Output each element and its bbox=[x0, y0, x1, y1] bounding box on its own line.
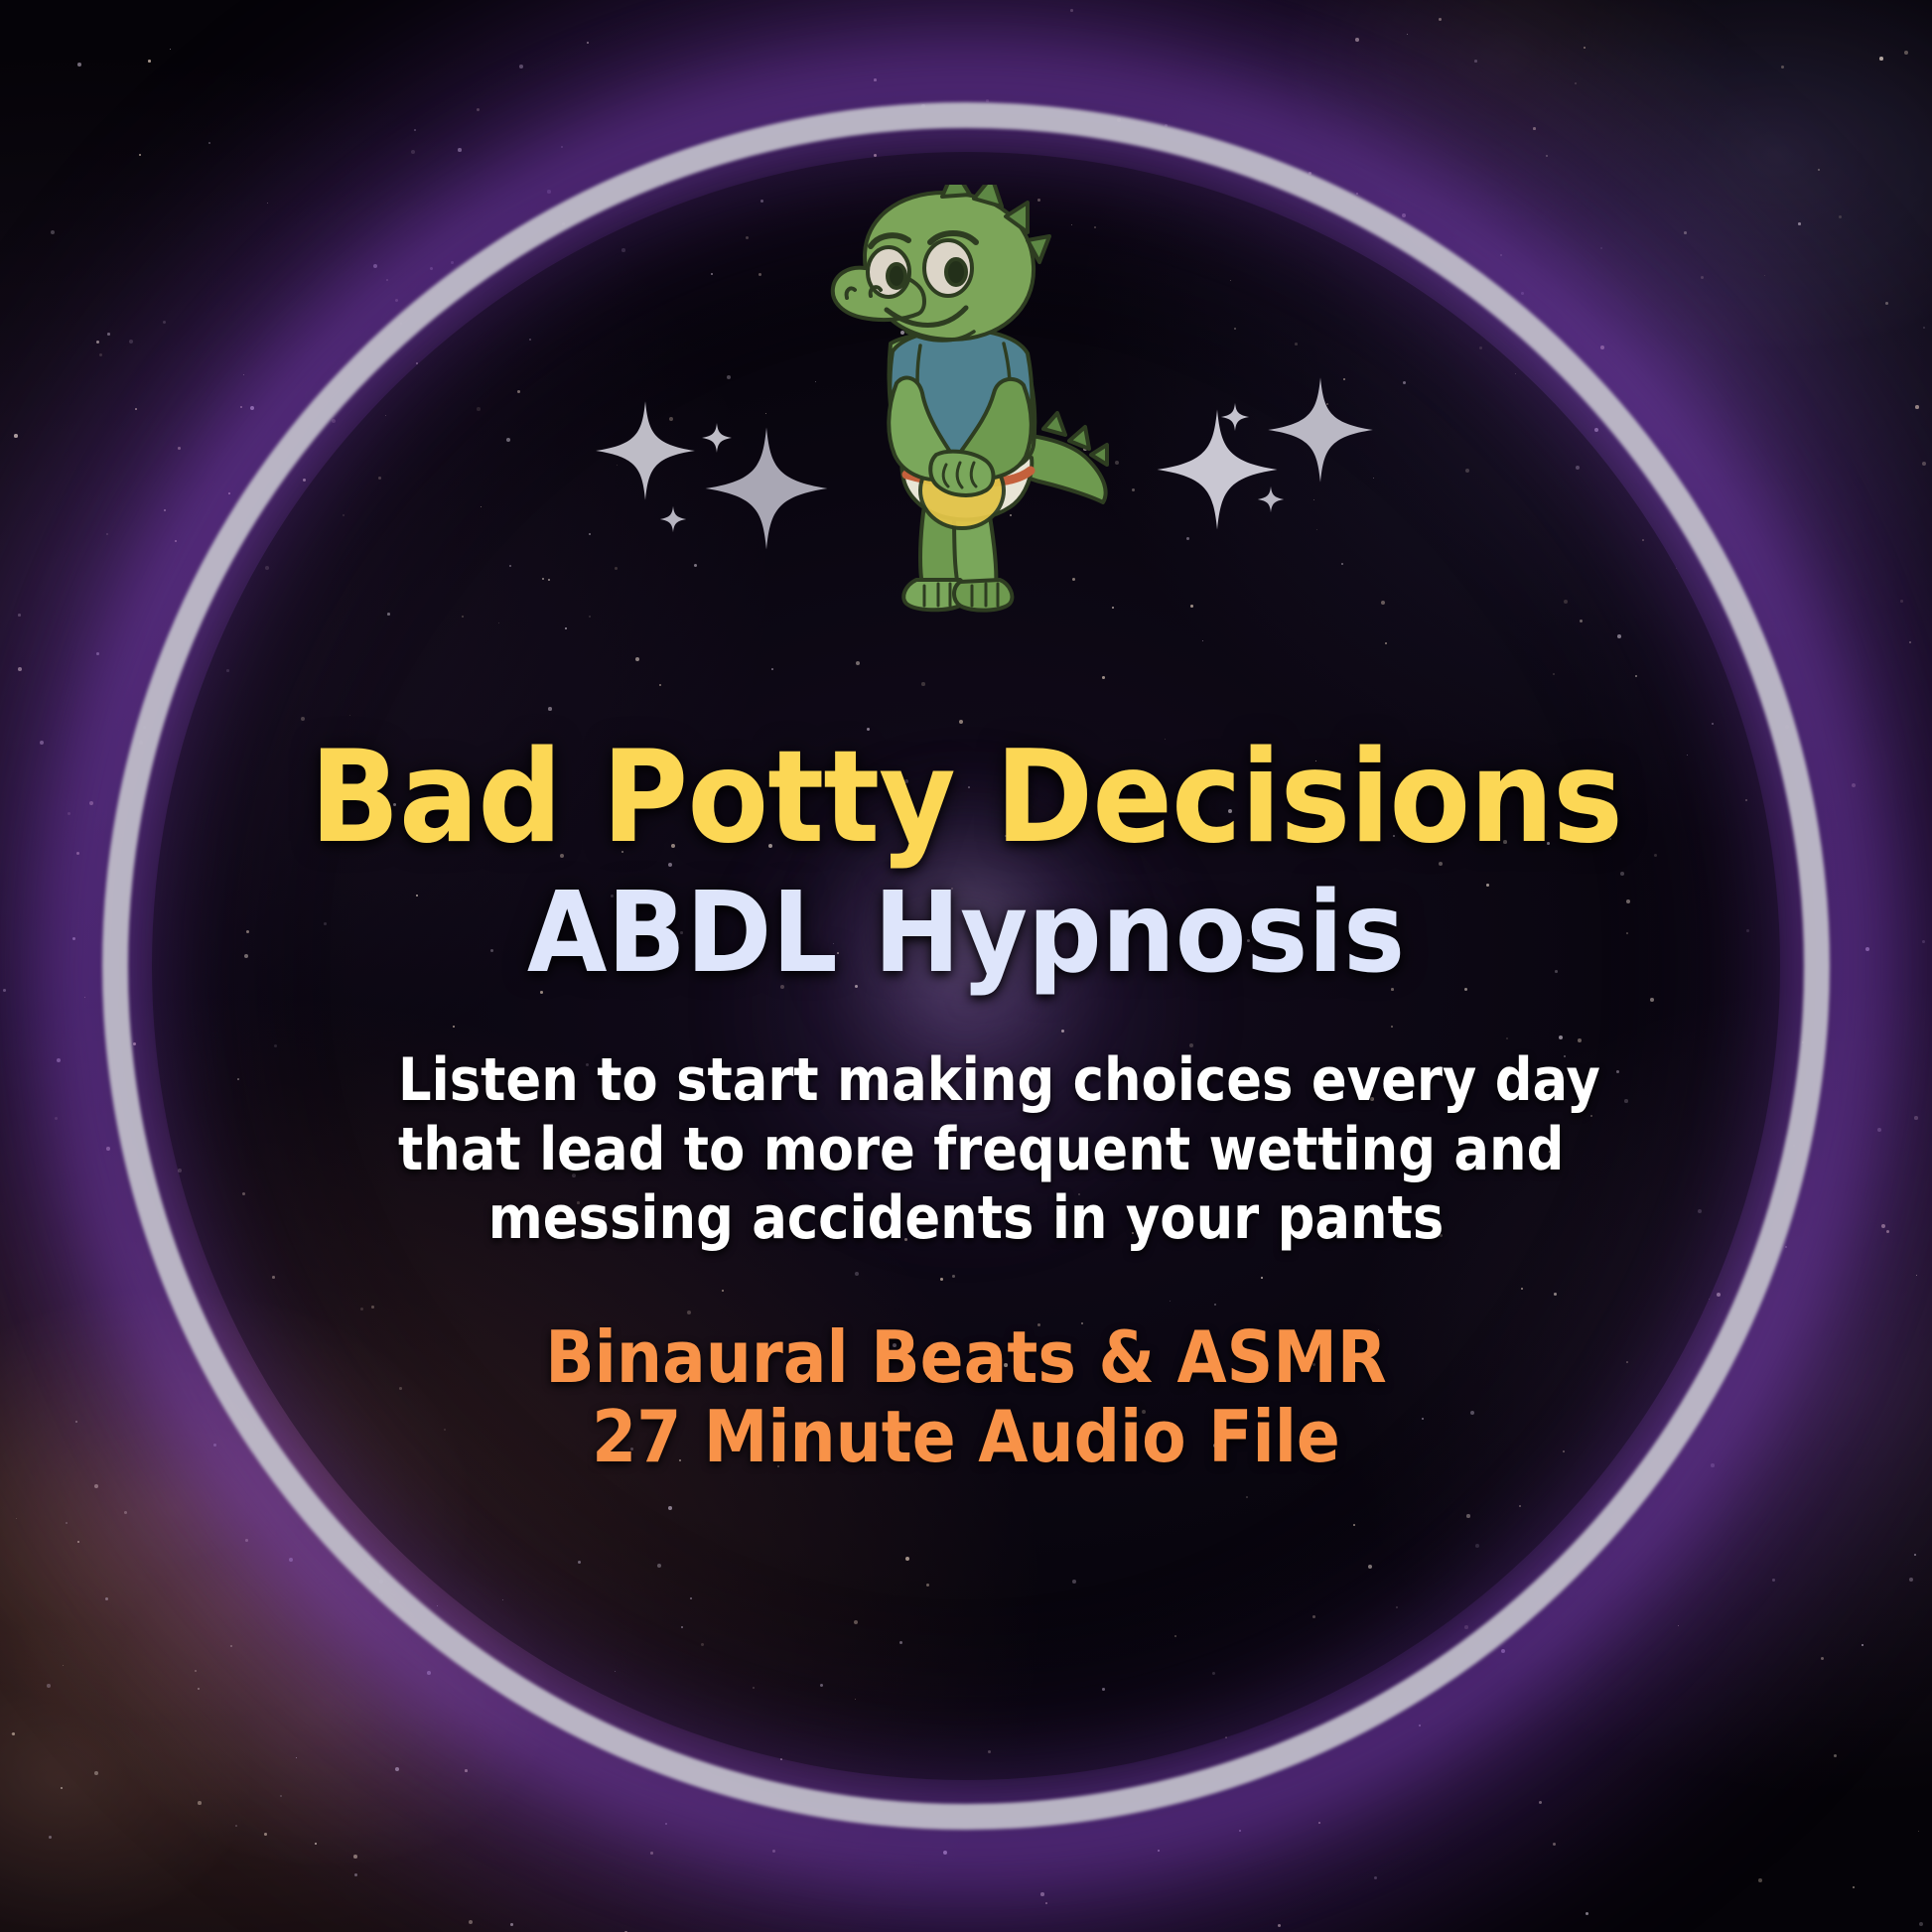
sparkle-icon bbox=[594, 399, 697, 502]
description-line-2: that lead to more frequent wetting and bbox=[398, 1116, 1534, 1185]
sparkle-icon-small bbox=[1219, 401, 1251, 433]
description-text: Listen to start making choices every day… bbox=[398, 1046, 1534, 1254]
page-title: Bad Potty Decisions bbox=[68, 735, 1864, 862]
poster-canvas: Bad Potty Decisions ABDL Hypnosis Listen… bbox=[0, 0, 1932, 1932]
sparkle-icon-small bbox=[658, 504, 688, 534]
page-subtitle: ABDL Hypnosis bbox=[68, 878, 1864, 989]
footer-line-1: Binaural Beats & ASMR bbox=[96, 1317, 1835, 1398]
footer-text: Binaural Beats & ASMR 27 Minute Audio Fi… bbox=[96, 1317, 1835, 1477]
sparkle-icon-small bbox=[700, 421, 734, 455]
description-line-3: messing accidents in your pants bbox=[398, 1184, 1534, 1254]
footer-line-2: 27 Minute Audio File bbox=[96, 1397, 1835, 1477]
sparkle-icon bbox=[1266, 375, 1375, 484]
poster-text-block: Bad Potty Decisions ABDL Hypnosis Listen… bbox=[0, 735, 1932, 1477]
sparkle-icon-small bbox=[1256, 484, 1286, 514]
dinosaur-mascot-illustration bbox=[821, 185, 1139, 661]
description-line-1: Listen to start making choices every day bbox=[398, 1046, 1534, 1116]
